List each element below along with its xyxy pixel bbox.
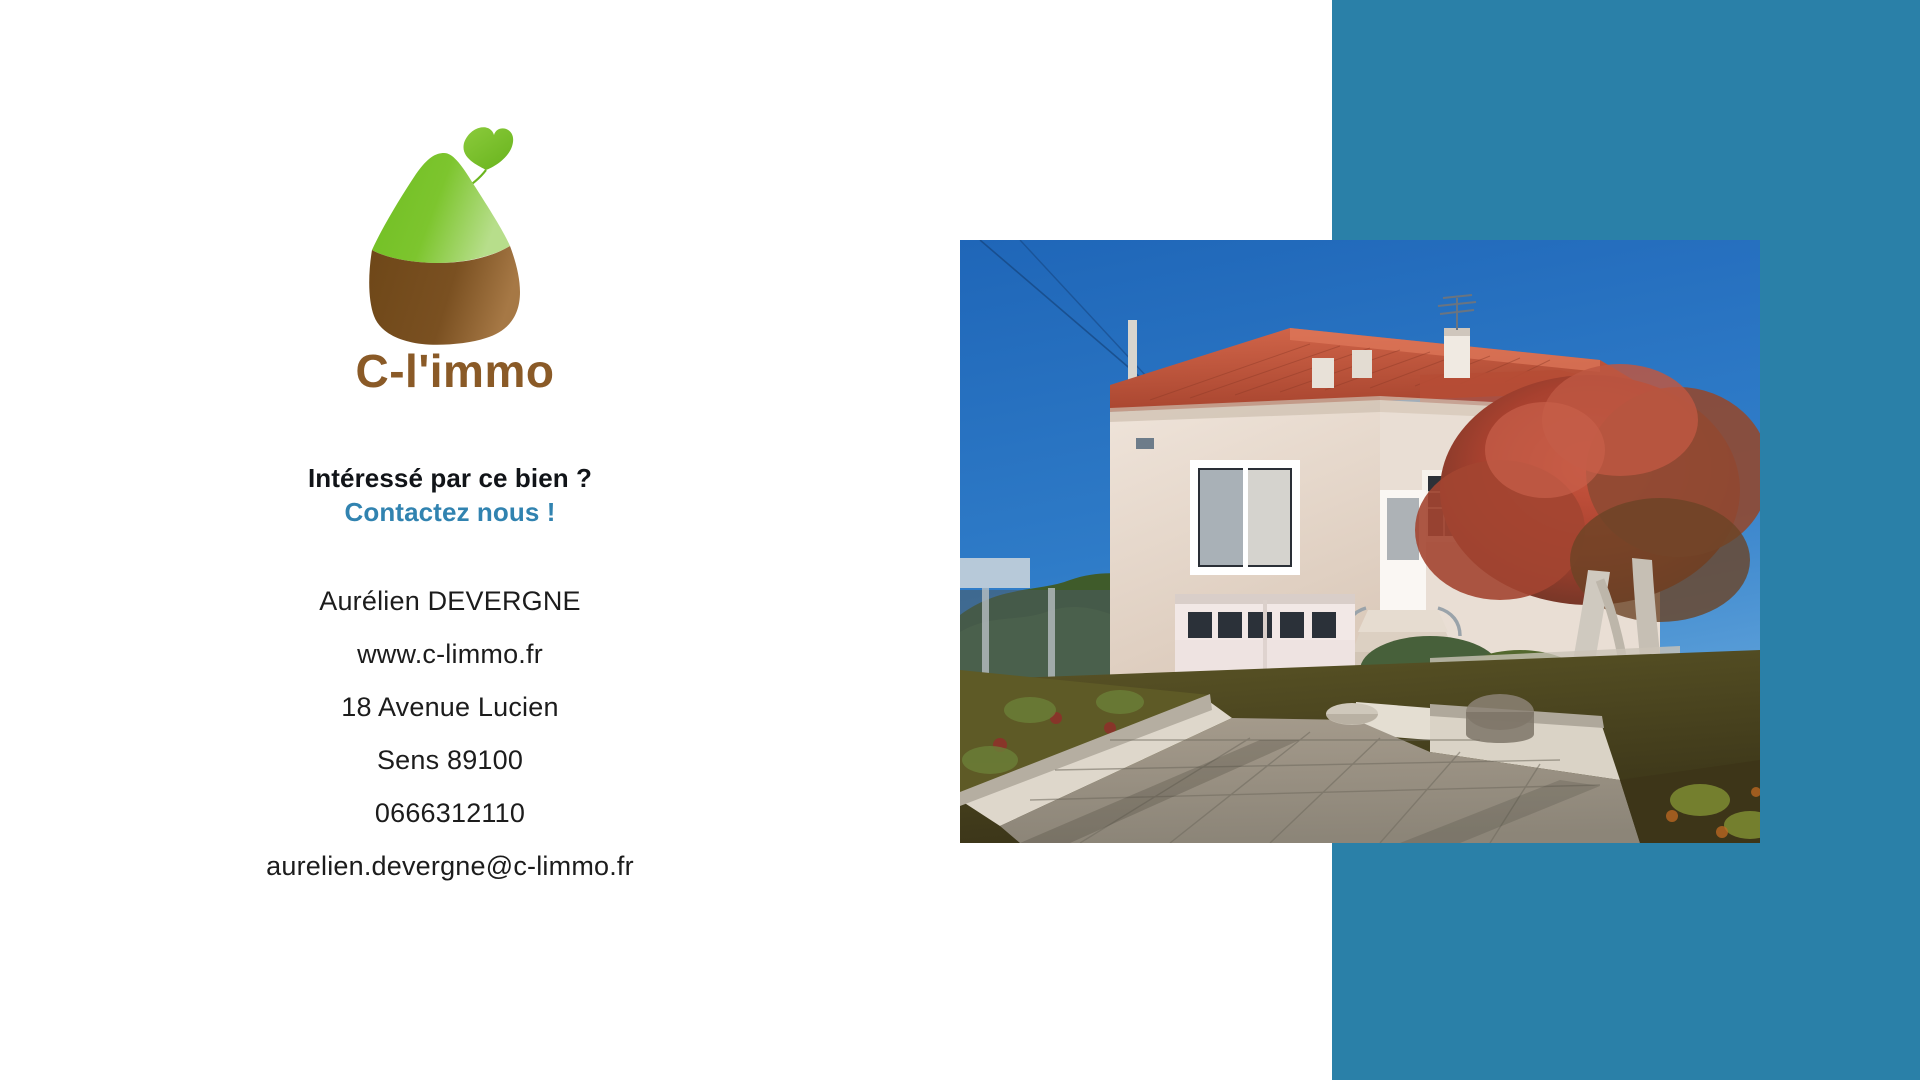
headline: Intéressé par ce bien ? Contactez nous ! <box>0 462 900 530</box>
contact-city-postcode: Sens 89100 <box>0 747 900 774</box>
chestnut-cap <box>372 153 510 263</box>
contact-website[interactable]: www.c-limmo.fr <box>0 641 900 668</box>
window-curtain <box>1200 470 1244 565</box>
property-photo <box>960 240 1760 843</box>
logo-wordmark: C-l'immo <box>356 345 555 397</box>
entrance-steps <box>1358 610 1448 632</box>
chimney-right <box>1444 332 1470 378</box>
contact-slide: C-l'immo Intéressé par ce bien ? Contact… <box>0 0 1920 1080</box>
contact-agent-name: Aurélien DEVERGNE <box>0 588 900 615</box>
headline-line-2: Contactez nous ! <box>0 496 900 530</box>
headline-line-1: Intéressé par ce bien ? <box>0 462 900 496</box>
chestnut-logo-icon: C-l'immo <box>340 110 570 400</box>
property-photo-illustration <box>960 240 1760 843</box>
contact-details: Aurélien DEVERGNE www.c-limmo.fr 18 Aven… <box>0 588 900 880</box>
leaf-icon <box>463 127 513 170</box>
house-number-plaque <box>1136 438 1154 449</box>
company-logo: C-l'immo <box>340 110 570 400</box>
contact-phone[interactable]: 0666312110 <box>0 800 900 827</box>
contact-street: 18 Avenue Lucien <box>0 694 900 721</box>
chimney <box>1312 358 1334 388</box>
contact-email[interactable]: aurelien.devergne@c-limmo.fr <box>0 853 900 880</box>
